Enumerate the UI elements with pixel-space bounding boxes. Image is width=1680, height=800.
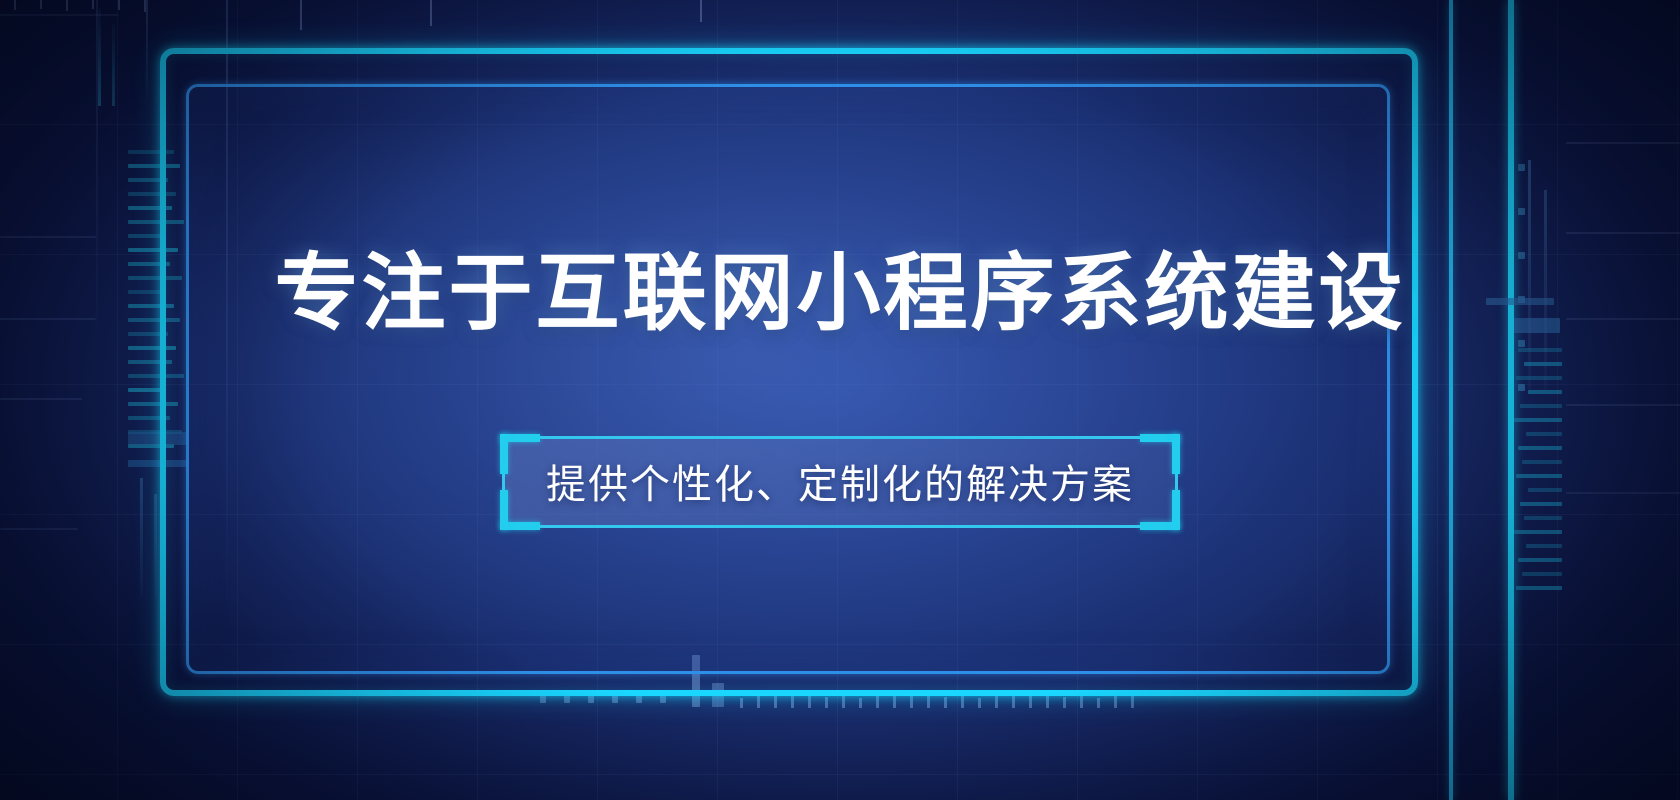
hero-banner: 专注于互联网小程序系统建设 提供个性化、定制化的解决方案: [0, 0, 1680, 800]
bracket-corner-top-left: [500, 434, 540, 474]
bracket-edge-right: [1175, 464, 1178, 500]
banner-subtitle: 提供个性化、定制化的解决方案: [546, 452, 1134, 510]
bracket-edge-left: [502, 464, 505, 500]
bracket-corner-bottom-left: [500, 490, 540, 530]
bracket-edge-bottom: [536, 525, 1144, 528]
subtitle-bracket-box: 提供个性化、定制化的解决方案: [502, 436, 1178, 528]
bracket-edge-top: [536, 436, 1144, 439]
banner-headline: 专注于互联网小程序系统建设: [274, 246, 1405, 340]
banner-content: 专注于互联网小程序系统建设 提供个性化、定制化的解决方案: [0, 0, 1680, 800]
bracket-corner-bottom-right: [1140, 490, 1180, 530]
bracket-corner-top-right: [1140, 434, 1180, 474]
